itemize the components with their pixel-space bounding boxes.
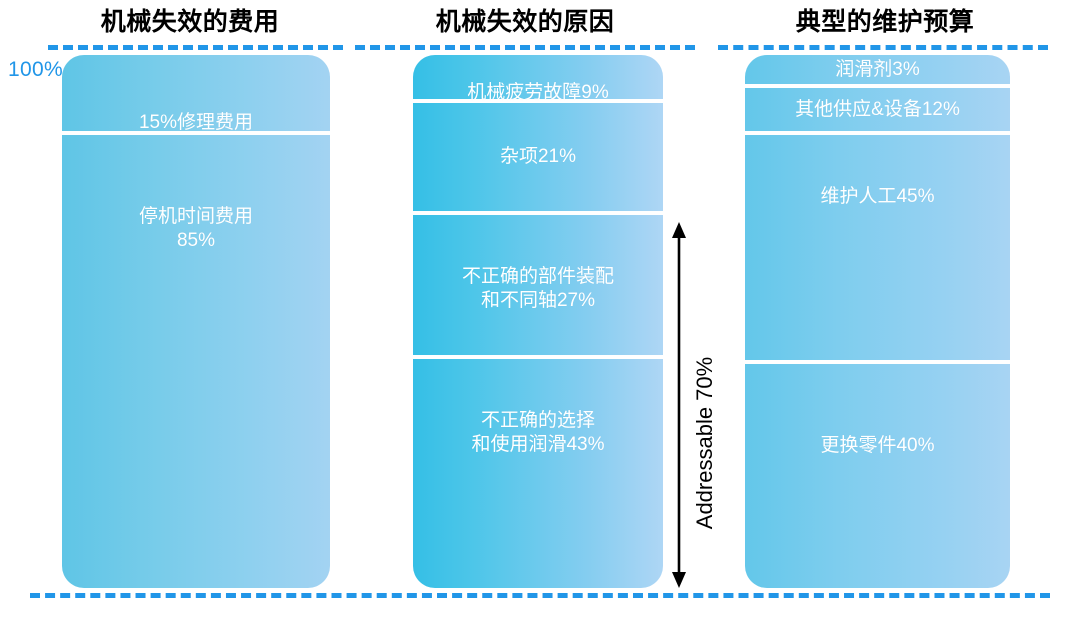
addressable-label: Addressable 70% — [686, 260, 724, 626]
stacked-bar-typical-maintenance-budget: 润滑剂3% 其他供应&设备12% 维护人工45% 更换零件40% — [745, 55, 1010, 588]
bottom-guide-line — [30, 593, 1050, 598]
bar-segment[interactable]: 润滑剂3% — [745, 55, 1010, 88]
column-title-cost-of-machine-failure: 机械失效的费用 — [0, 2, 380, 38]
bar-segment-label: 维护人工45% — [812, 185, 942, 209]
bar-segment[interactable]: 停机时间费用 85% — [62, 135, 330, 588]
bar-segment[interactable]: 不正确的部件装配 和不同轴27% — [413, 215, 663, 359]
chart-canvas: 机械失效的费用 机械失效的原因 典型的维护预算 100% 15%修理费用 停机时… — [0, 0, 1080, 620]
bar-segment[interactable]: 机械疲劳故障9% — [413, 55, 663, 103]
bar-segment-label: 润滑剂3% — [827, 58, 927, 82]
top-guide-line-middle — [355, 45, 695, 50]
bar-segment-label: 其他供应&设备12% — [787, 98, 968, 122]
bar-segment-label: 更换零件40% — [812, 434, 942, 458]
bar-segment[interactable]: 其他供应&设备12% — [745, 88, 1010, 135]
top-guide-line-right — [718, 45, 1048, 50]
bar-segment[interactable]: 杂项21% — [413, 103, 663, 215]
column-title-typical-maintenance-budget: 典型的维护预算 — [700, 2, 1070, 38]
bar-segment[interactable]: 15%修理费用 — [62, 55, 330, 135]
bar-segment-label: 杂项21% — [492, 145, 584, 169]
bar-segment-label: 不正确的部件装配 和不同轴27% — [454, 265, 622, 313]
bar-segment-label: 机械疲劳故障9% — [459, 81, 616, 105]
bar-segment[interactable]: 更换零件40% — [745, 364, 1010, 588]
bar-segment[interactable]: 不正确的选择 和使用润滑43% — [413, 359, 663, 588]
addressable-annotation: Addressable 70% — [664, 222, 724, 588]
bar-segment-label: 不正确的选择 和使用润滑43% — [463, 409, 612, 457]
bar-segment-label: 停机时间费用 85% — [131, 205, 261, 253]
axis-label-100-percent: 100% — [8, 58, 63, 82]
bar-segment-label: 15%修理费用 — [131, 111, 261, 135]
stacked-bar-causes-of-machine-failure: 机械疲劳故障9% 杂项21% 不正确的部件装配 和不同轴27% 不正确的选择 和… — [413, 55, 663, 588]
bar-segment[interactable]: 维护人工45% — [745, 135, 1010, 364]
stacked-bar-cost-of-machine-failure: 15%修理费用 停机时间费用 85% — [62, 55, 330, 588]
column-title-causes-of-machine-failure: 机械失效的原因 — [355, 2, 695, 38]
top-guide-line-left — [48, 45, 343, 50]
